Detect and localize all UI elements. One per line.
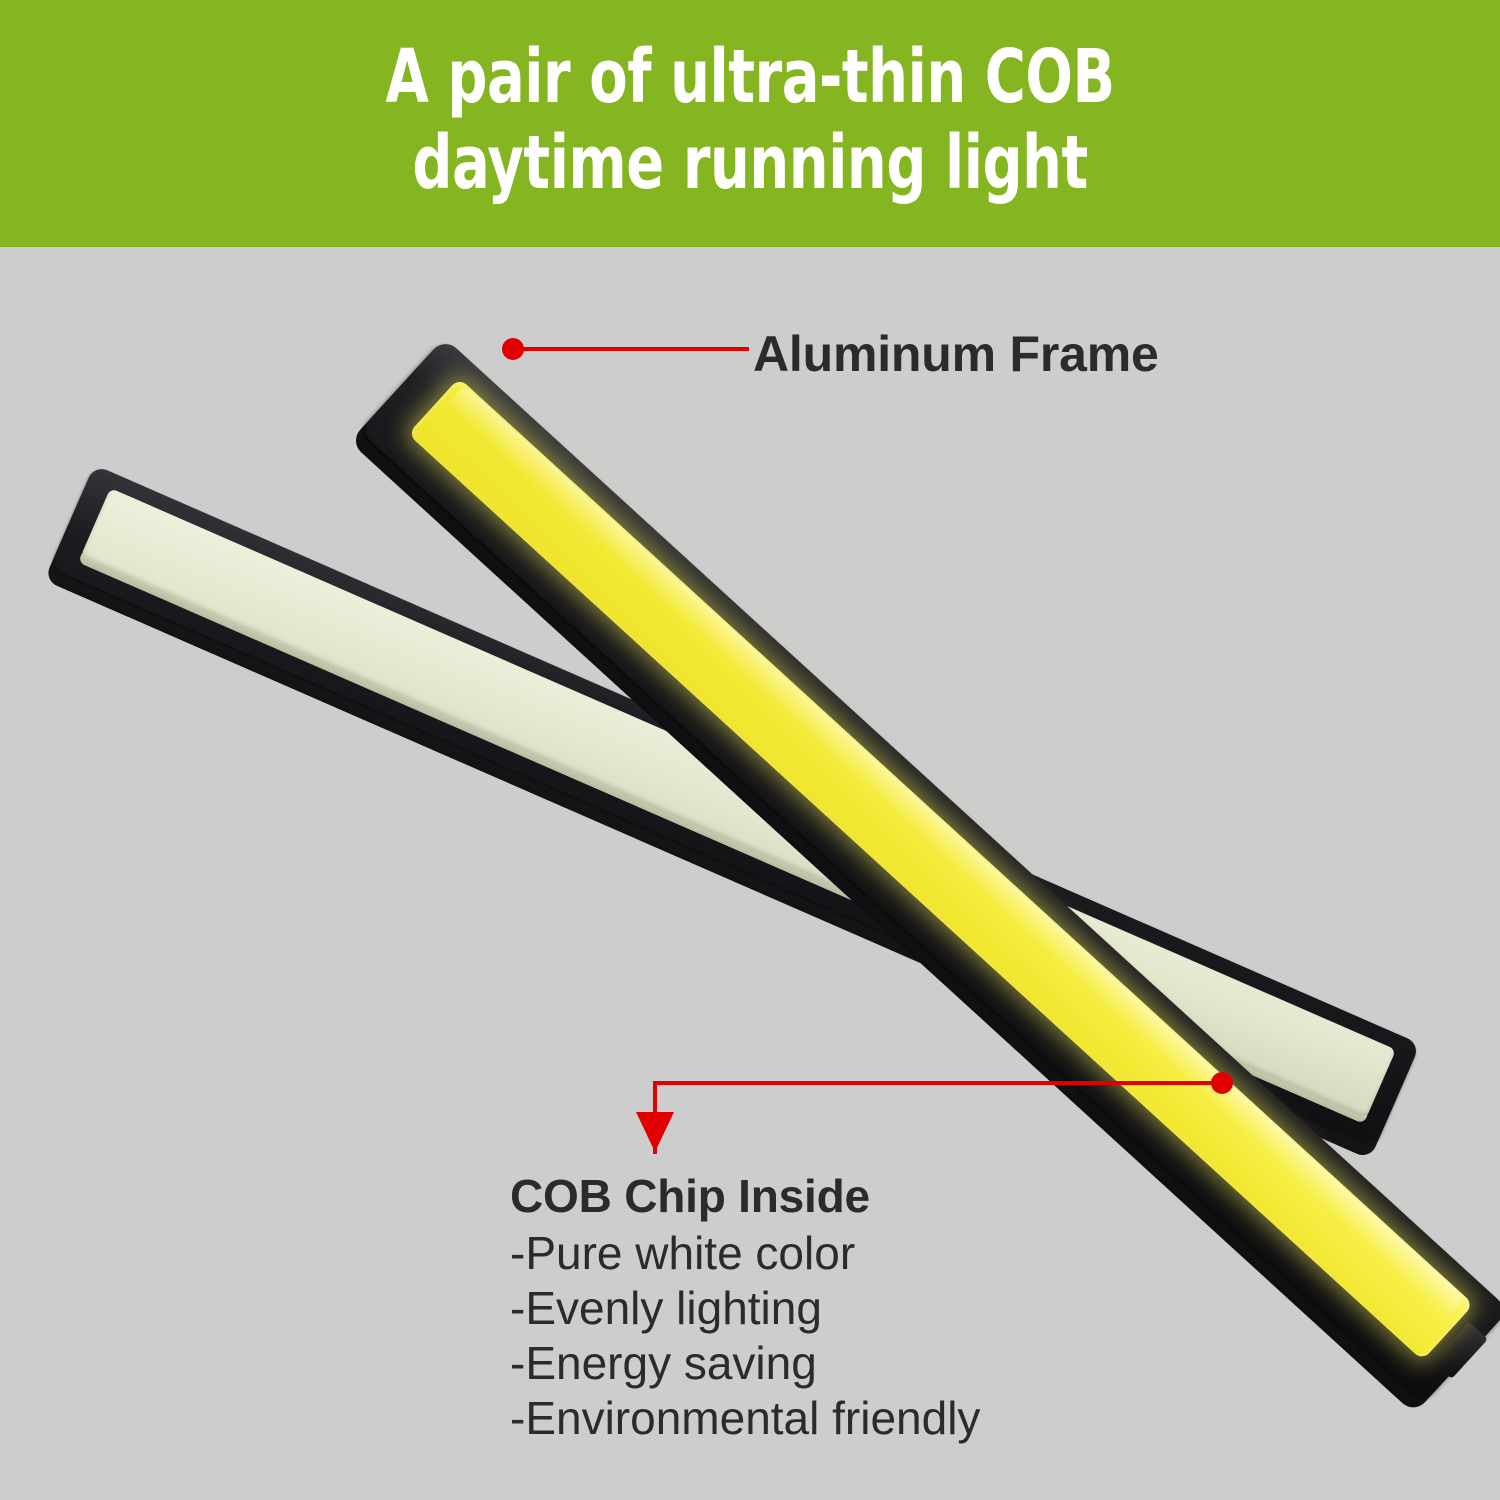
header-banner: A pair of ultra-thin COB daytime running… (0, 0, 1500, 247)
product-infographic: A pair of ultra-thin COB daytime running… (0, 0, 1500, 1500)
banner-title-line-2: daytime running light (412, 121, 1087, 207)
banner-title-line-1: A pair of ultra-thin COB (385, 35, 1114, 121)
cob-chip-leader-line-horizontal (653, 1081, 1223, 1085)
cob-chip-leader-arrowhead (636, 1112, 674, 1152)
cob-chip-bullet-3: -Energy saving (510, 1336, 1070, 1391)
cob-chip-bullet-4: -Environmental friendly (510, 1391, 1070, 1446)
cob-chip-heading: COB Chip Inside (510, 1170, 1070, 1222)
aluminum-frame-label: Aluminum Frame (753, 325, 1159, 383)
cob-chip-bullet-1: -Pure white color (510, 1226, 1070, 1281)
aluminum-frame-leader-line (514, 347, 749, 351)
cob-chip-callout-dot (1211, 1072, 1233, 1094)
aluminum-frame-callout-dot (502, 338, 524, 360)
led-strip-unlit-phosphor-face (80, 488, 1396, 1118)
cob-chip-bullet-2: -Evenly lighting (510, 1281, 1070, 1336)
cob-chip-callout-block: COB Chip Inside -Pure white color -Evenl… (510, 1170, 1070, 1445)
